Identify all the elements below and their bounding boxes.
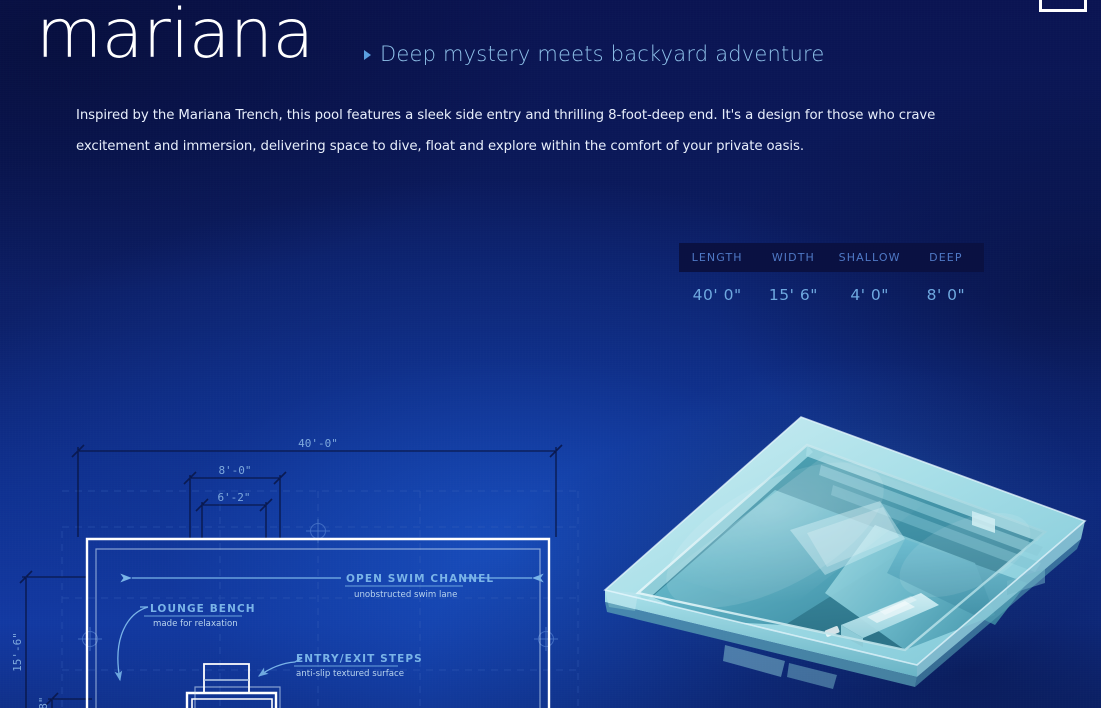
spec-value-deep: 8' 0"	[908, 286, 984, 304]
callout-title-lounge-bench: LOUNGE BENCH	[150, 603, 256, 615]
callout-sub-lounge-bench: made for relaxation	[153, 619, 238, 629]
spec-header-shallow: SHALLOW	[832, 251, 908, 264]
callout-title-entry-exit-steps: ENTRY/EXIT STEPS	[296, 653, 423, 665]
callout-sub-entry-exit-steps: anti-slip textured surface	[296, 669, 404, 679]
spec-table-header-row: LENGTH WIDTH SHALLOW DEEP	[679, 243, 984, 272]
spec-table-value-row: 40' 0" 15' 6" 4' 0" 8' 0"	[679, 279, 984, 311]
page-header: mariana Deep mystery meets backyard adve…	[0, 0, 1101, 95]
tagline-text: Deep mystery meets backyard adventure	[380, 42, 825, 66]
dim-plan-step-outer: 8'-0"	[218, 464, 251, 477]
description-paragraph: Inspired by the Mariana Trench, this poo…	[76, 100, 991, 162]
spec-header-width: WIDTH	[755, 251, 831, 264]
pool-render-3d	[575, 325, 1101, 708]
spec-value-length: 40' 0"	[679, 286, 755, 304]
tagline: Deep mystery meets backyard adventure	[364, 42, 825, 66]
dim-plan-bench-depth: 2'-8"	[37, 696, 50, 708]
page-title: mariana	[36, 0, 314, 74]
dim-plan-step-inner: 6'-2"	[217, 491, 250, 504]
dim-plan-overall-length: 40'-0"	[298, 437, 338, 450]
triangle-right-icon	[364, 50, 371, 60]
spec-value-shallow: 4' 0"	[832, 286, 908, 304]
dim-plan-overall-width: 15'-6"	[11, 632, 24, 672]
blueprint-drawings: OPEN SWIM CHANNEL unobstructed swim lane…	[0, 205, 600, 708]
spec-header-deep: DEEP	[908, 251, 984, 264]
spec-table: LENGTH WIDTH SHALLOW DEEP 40' 0" 15' 6" …	[679, 243, 984, 311]
callout-sub-open-swim-channel: unobstructed swim lane	[354, 590, 457, 600]
callout-title-open-swim-channel: OPEN SWIM CHANNEL	[346, 573, 494, 585]
corner-frame-icon	[1039, 0, 1087, 12]
spec-header-length: LENGTH	[679, 251, 755, 264]
spec-value-width: 15' 6"	[755, 286, 831, 304]
